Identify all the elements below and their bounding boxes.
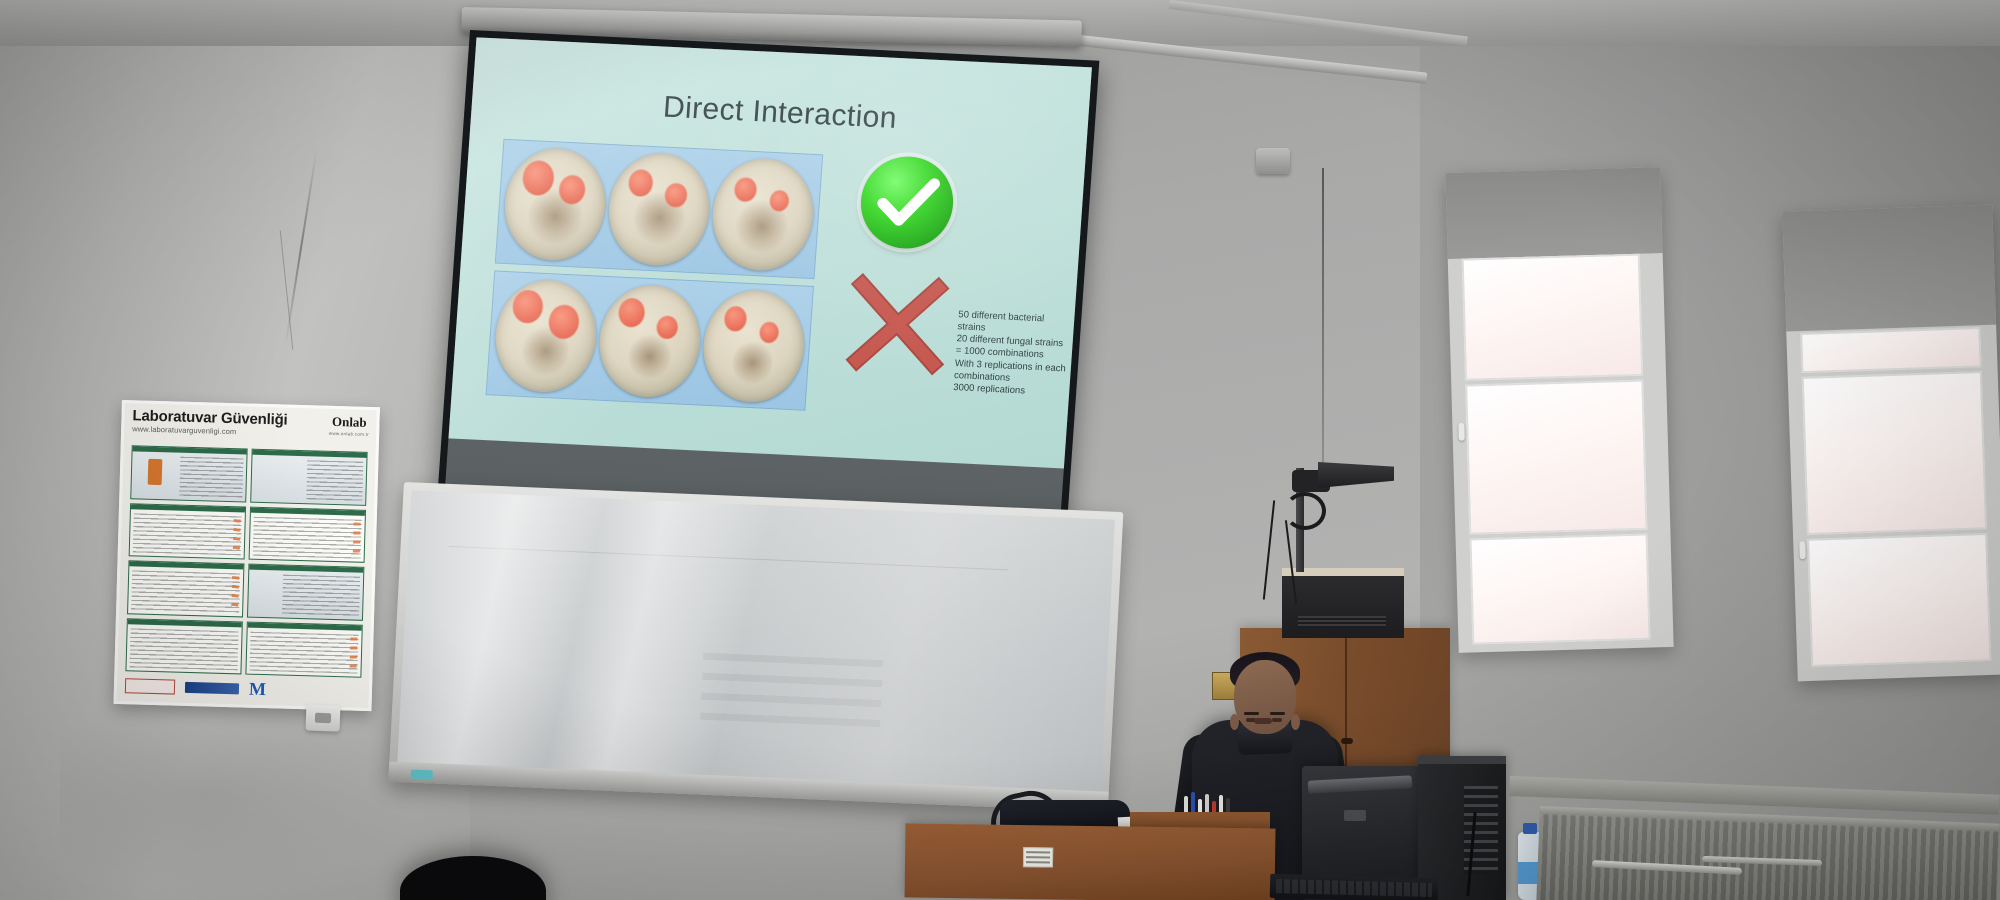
- roller-blind[interactable]: [1445, 167, 1662, 259]
- cabinet-vent: [1298, 616, 1386, 628]
- cabinet-knob-icon[interactable]: [1341, 738, 1353, 744]
- poster-panel: [247, 564, 364, 621]
- tower-top-panel: [1418, 756, 1506, 764]
- screen-frame: Direct Interaction: [437, 30, 1099, 530]
- window-pane: [1800, 327, 1981, 373]
- presenter-mouth: [1254, 718, 1272, 724]
- window-pane: [1802, 371, 1987, 535]
- poster-panel: [129, 503, 246, 560]
- whiteboard-frame: [388, 482, 1123, 812]
- petri-dish: [501, 146, 609, 263]
- window-pane: [1807, 533, 1991, 667]
- poster-header: Laboratuvar Güvenliği www.laboratuvarguv…: [124, 403, 377, 448]
- petri-dish-row-bottom: [486, 270, 814, 410]
- poster-panel: [127, 560, 244, 617]
- poster-panel: [249, 506, 366, 563]
- green-check-circle-icon: [858, 154, 956, 250]
- poster-brand: Onlab www.onlab.com.tr: [329, 413, 370, 437]
- projection-screen: Direct Interaction: [437, 30, 1099, 530]
- wall-smudge: [60, 700, 420, 890]
- partner-logo-icon: [125, 678, 175, 694]
- marker-icon: [410, 770, 432, 780]
- keyboard[interactable]: [1270, 874, 1439, 900]
- partner-logo-icon: [185, 681, 239, 694]
- whiteboard-surface: [397, 490, 1115, 791]
- poster-panel: [245, 621, 362, 678]
- bottle-cap-icon: [1523, 823, 1537, 834]
- lectern-label: [1023, 847, 1053, 867]
- red-cross-icon: [838, 266, 958, 383]
- roller-blind[interactable]: [1782, 205, 1996, 332]
- petri-dish: [709, 156, 817, 273]
- slide-notes: 50 different bacterial strains 20 differ…: [953, 309, 1079, 400]
- monitor-rear-bar: [1308, 775, 1413, 793]
- poster-panel-grid: [125, 445, 367, 678]
- wall-radiator: [1536, 806, 1999, 900]
- classroom-scene: Direct Interaction: [0, 0, 2000, 900]
- slide-title: Direct Interaction: [471, 81, 1089, 145]
- wall-power-socket[interactable]: [306, 704, 341, 731]
- poster-panel: [250, 449, 367, 506]
- petri-dish: [596, 282, 704, 399]
- window-left: [1445, 167, 1673, 653]
- presentation-slide: Direct Interaction: [448, 37, 1091, 468]
- whiteboard: [388, 482, 1123, 812]
- window-right: [1782, 205, 2000, 682]
- junction-box: [1256, 148, 1290, 174]
- whiteboard-residual-writing: [700, 653, 884, 730]
- petri-dish: [605, 151, 713, 268]
- window-pane: [1470, 534, 1651, 645]
- projector-cable-coil: [1284, 492, 1326, 530]
- keyboard-keys: [1276, 879, 1432, 897]
- window-handle[interactable]: [1458, 423, 1465, 441]
- poster-panel: [125, 618, 242, 675]
- petri-dish: [700, 287, 808, 404]
- poster-panel: [130, 445, 247, 502]
- window-pane: [1465, 380, 1647, 535]
- equipment-cabinet: [1282, 568, 1404, 638]
- poster-brand-url: www.onlab.com.tr: [329, 431, 369, 437]
- petri-dish-row-top: [495, 139, 823, 279]
- wooden-lectern[interactable]: [905, 823, 1276, 900]
- whiteboard-smudge: [449, 546, 1009, 570]
- poster-brand-name: Onlab: [332, 414, 367, 430]
- monitor-badge: [1344, 810, 1366, 821]
- hanging-wire: [1322, 168, 1324, 488]
- window-handle[interactable]: [1799, 541, 1806, 559]
- window-pane: [1462, 254, 1643, 381]
- petri-dish: [492, 277, 600, 394]
- wall-poster: Laboratuvar Güvenliği www.laboratuvarguv…: [114, 400, 380, 711]
- m-logo-icon: M: [249, 680, 266, 698]
- poster-footer: M: [125, 674, 362, 703]
- poster-body: Laboratuvar Güvenliği www.laboratuvarguv…: [114, 400, 380, 711]
